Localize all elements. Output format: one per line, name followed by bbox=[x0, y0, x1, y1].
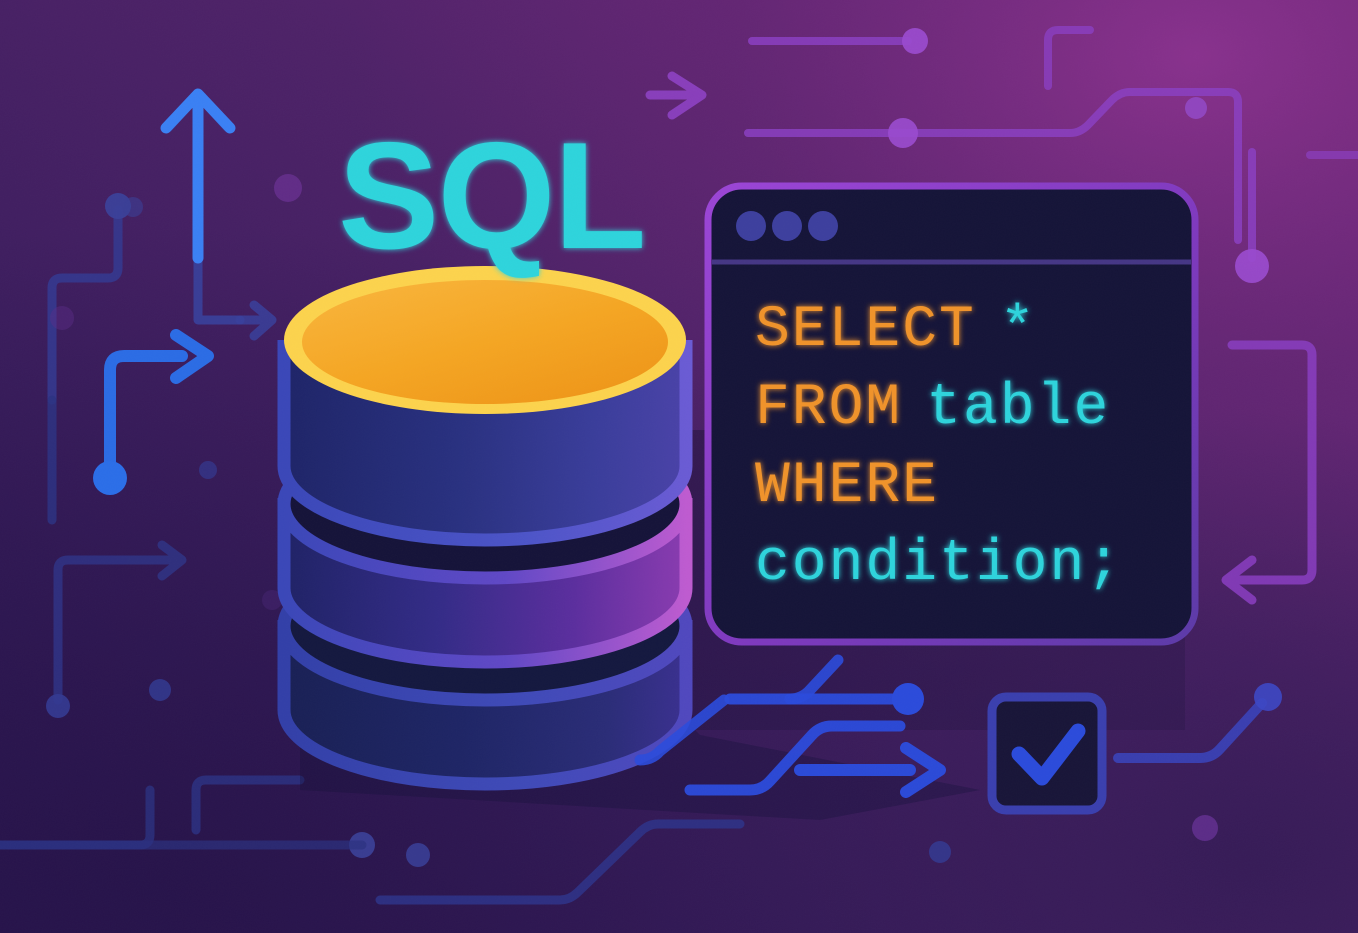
window-dot-minimize-icon bbox=[772, 211, 802, 241]
circuit-node bbox=[149, 679, 171, 701]
circuit-node bbox=[1192, 815, 1218, 841]
circuit-node bbox=[929, 841, 951, 863]
circuit-node bbox=[1254, 683, 1282, 711]
database-top-face bbox=[284, 266, 686, 414]
circuit-node bbox=[46, 694, 70, 718]
checkmark-box[interactable] bbox=[992, 697, 1102, 810]
code-keyword-select: SELECT bbox=[755, 298, 976, 363]
circuit-node bbox=[902, 28, 928, 54]
code-token-table: table bbox=[926, 376, 1110, 441]
code-window[interactable]: SELECT* FROMtable WHERE condition; bbox=[708, 186, 1195, 642]
code-token-star: * bbox=[1000, 298, 1037, 363]
circuit-node bbox=[123, 197, 143, 217]
code-keyword-from: FROM bbox=[755, 376, 902, 441]
circuit-node bbox=[274, 174, 302, 202]
page-title: SQL bbox=[338, 111, 644, 281]
code-token-condition: condition; bbox=[755, 532, 1123, 597]
circuit-node bbox=[199, 461, 217, 479]
window-dot-maximize-icon bbox=[808, 211, 838, 241]
circuit-node bbox=[1185, 97, 1207, 119]
database-cylinder[interactable] bbox=[284, 266, 686, 784]
window-dot-close-icon bbox=[736, 211, 766, 241]
code-line-where: WHERE bbox=[755, 454, 939, 519]
code-line-condition: condition; bbox=[755, 532, 1123, 597]
code-keyword-where: WHERE bbox=[755, 454, 939, 519]
circuit-node bbox=[50, 306, 74, 330]
circuit-node bbox=[888, 118, 918, 148]
code-line-from: FROMtable bbox=[755, 376, 1110, 441]
circuit-node bbox=[93, 461, 127, 495]
sql-heading-text: SQL bbox=[338, 111, 644, 281]
circuit-node bbox=[406, 843, 430, 867]
circuit-node bbox=[1235, 249, 1269, 283]
illustration-canvas: SELECT* FROMtable WHERE condition; bbox=[0, 0, 1358, 933]
illustration-svg: SELECT* FROMtable WHERE condition; bbox=[0, 0, 1358, 933]
